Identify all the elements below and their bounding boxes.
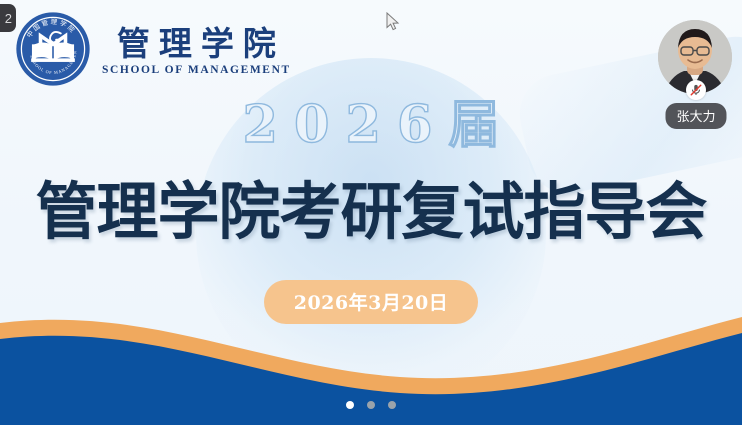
pagination-dot-1[interactable] [346,401,354,409]
participant-tile[interactable]: 张大力 [650,0,742,136]
corner-badge[interactable]: 2 [0,4,16,32]
school-seal-icon: 中国管理学院 SCHOOL OF MANAGEMENT [14,10,92,88]
mic-muted-icon [686,80,706,100]
school-logo: 中国管理学院 SCHOOL OF MANAGEMENT 管理学院 SCHOOL … [14,10,291,88]
screen-root: 中国管理学院 SCHOOL OF MANAGEMENT 管理学院 SCHOOL … [0,0,750,425]
logo-english-name: SCHOOL OF MANAGEMENT [102,64,291,76]
logo-wordmark: 管理学院 SCHOOL OF MANAGEMENT [102,22,291,77]
pagination-dots[interactable] [0,401,742,409]
presentation-slide[interactable]: 中国管理学院 SCHOOL OF MANAGEMENT 管理学院 SCHOOL … [0,0,742,425]
slide-headline: 管理学院考研复试指导会 [0,178,742,246]
pagination-dot-3[interactable] [388,401,396,409]
participant-name: 张大力 [665,103,726,129]
right-gutter [742,0,750,425]
mouse-pointer-icon [386,12,400,32]
logo-chinese-name: 管理学院 [108,26,285,62]
year-label: 2026届 [0,100,742,151]
pagination-dot-2[interactable] [367,401,375,409]
